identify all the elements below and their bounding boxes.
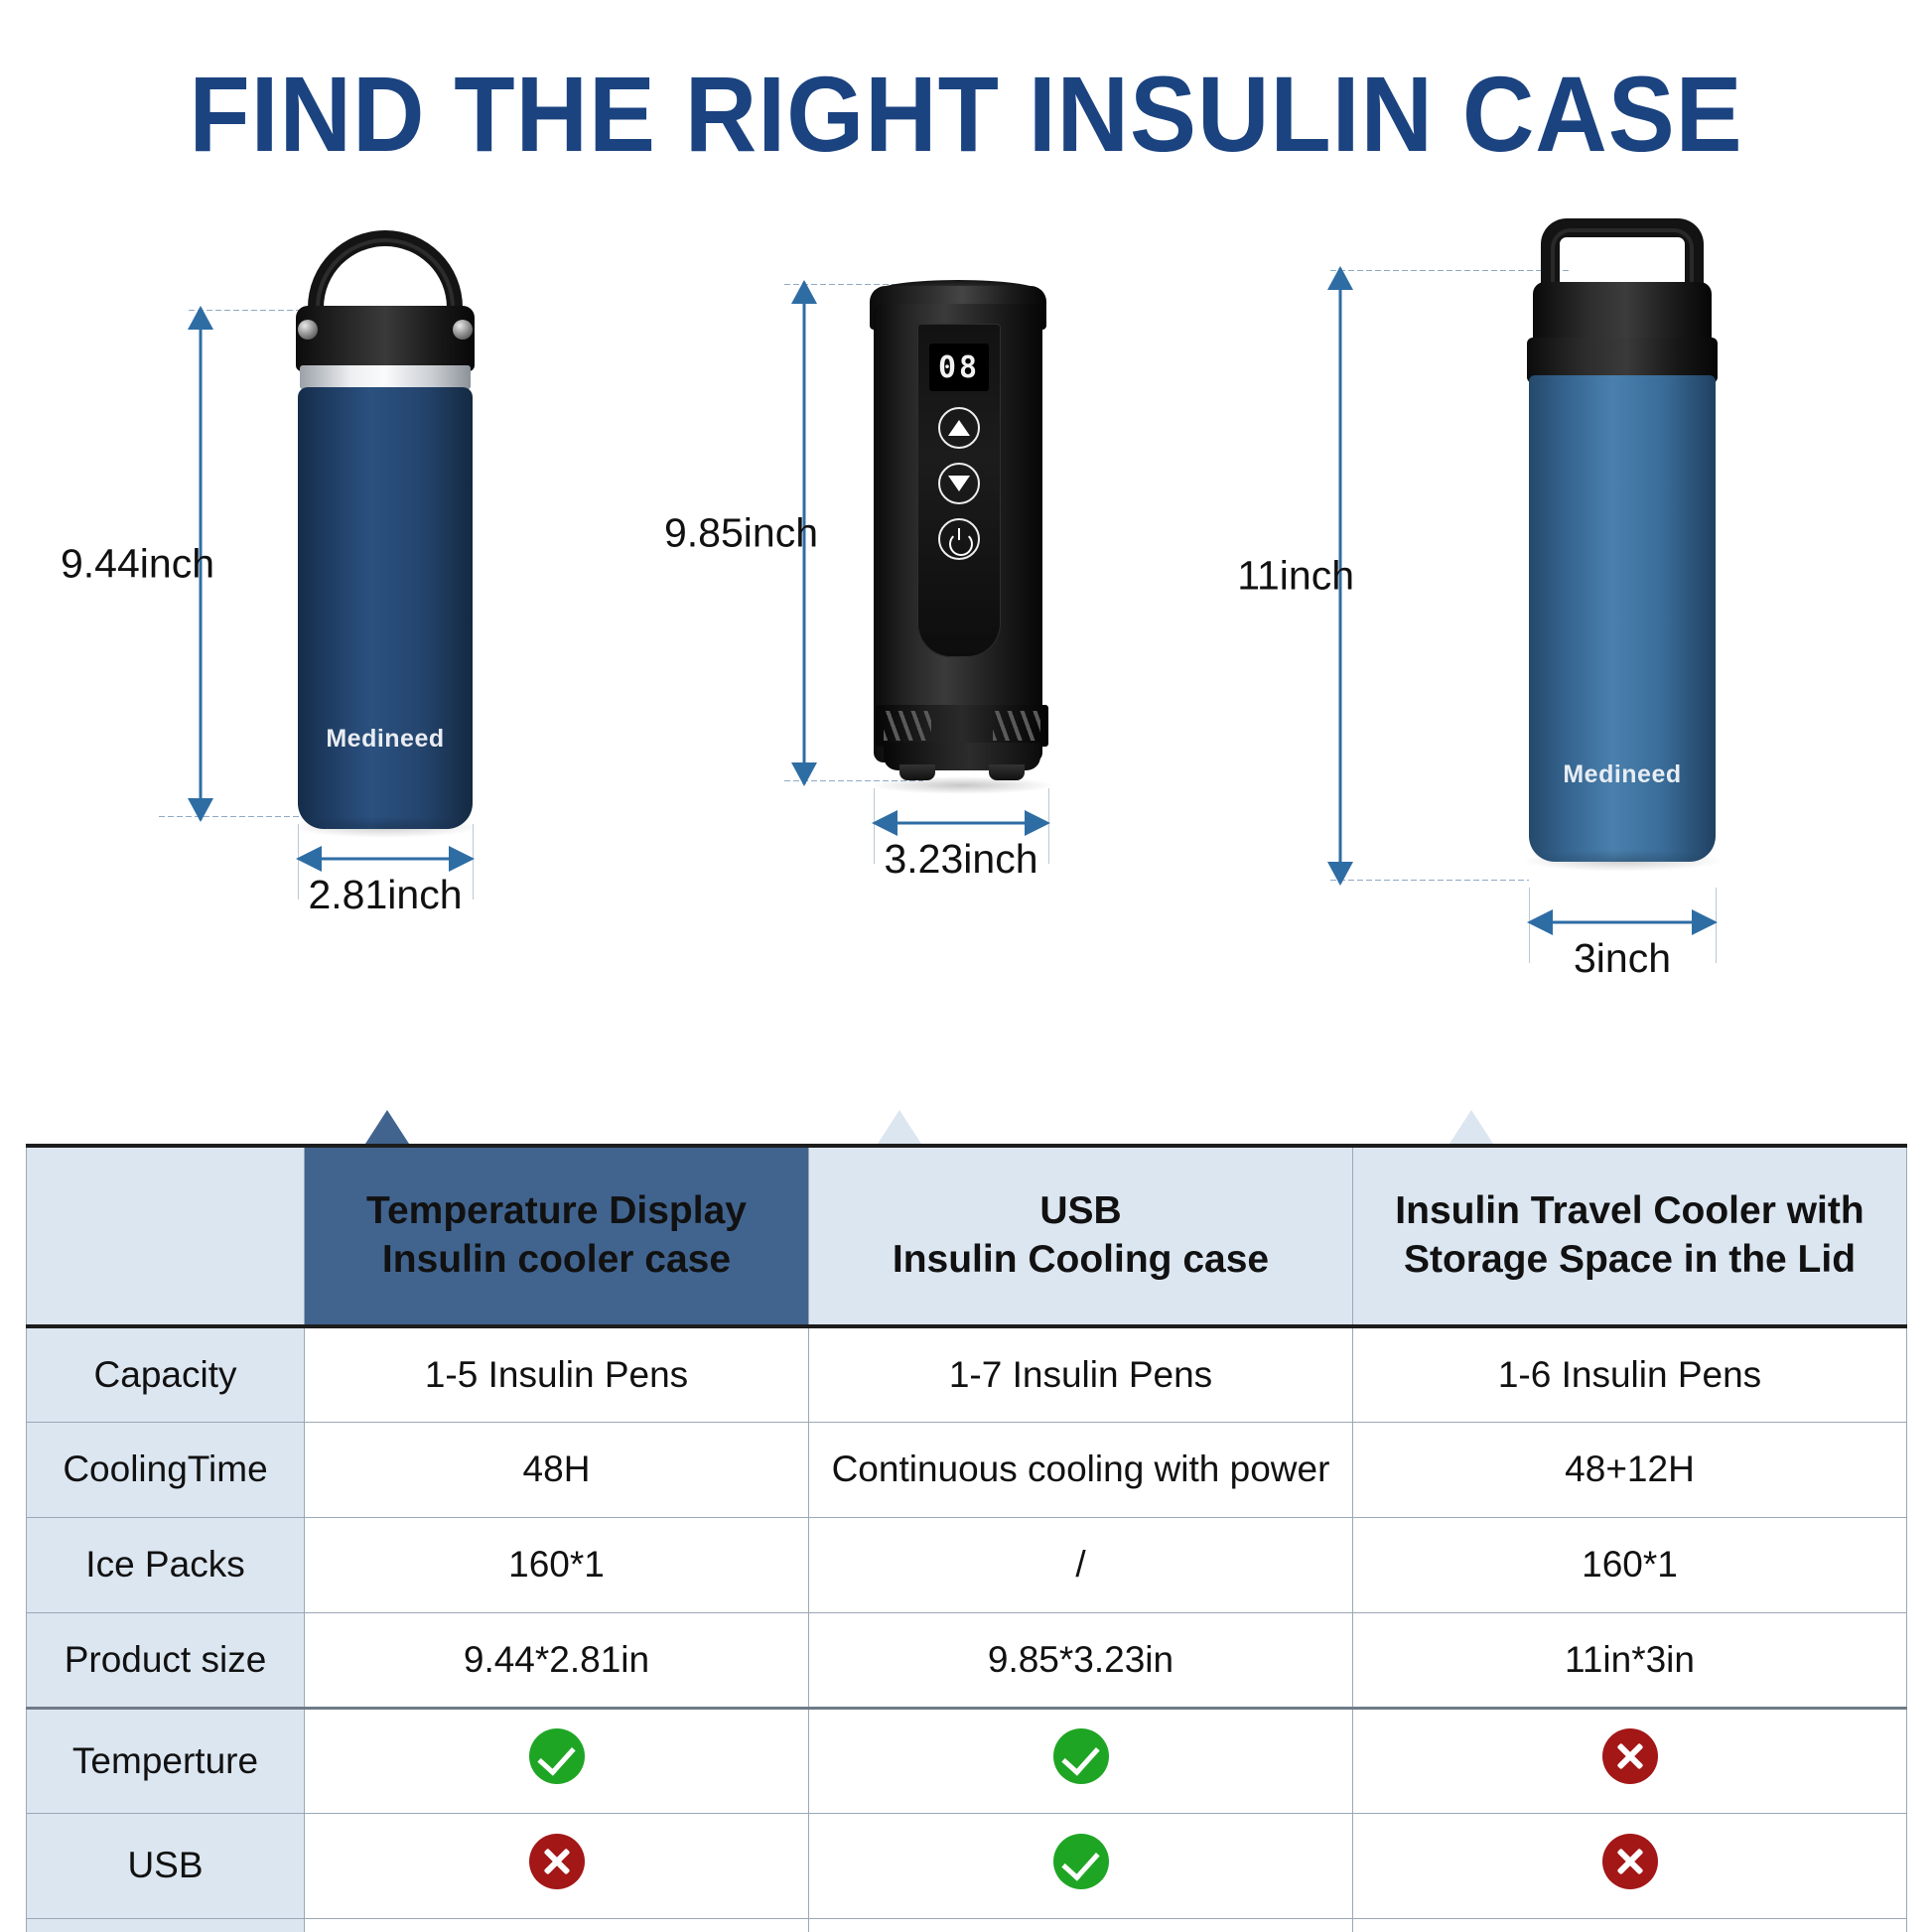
arrow-head-up-icon xyxy=(791,280,817,304)
width-dimension-3: 3inch xyxy=(1529,907,1716,937)
header-product-2-line1: USB xyxy=(817,1187,1344,1236)
arrow-head-right-icon xyxy=(449,846,475,872)
table-cell: 160*1 xyxy=(305,1517,809,1612)
arrow-head-up-icon xyxy=(188,306,213,330)
table-body: Capacity1-5 Insulin Pens1-7 Insulin Pens… xyxy=(27,1326,1907,1932)
bottle-3-lid xyxy=(1533,282,1712,344)
table-cell xyxy=(305,1813,809,1918)
table-row: USB xyxy=(27,1813,1907,1918)
arrow-head-left-icon xyxy=(1527,909,1553,935)
power-button[interactable] xyxy=(938,518,980,560)
arrow-head-right-icon xyxy=(1692,909,1718,935)
width-label-1: 2.81inch xyxy=(308,872,462,918)
table-cell: 11in*3in xyxy=(1353,1612,1907,1708)
column-pointer-1 xyxy=(365,1110,409,1144)
arrow-down-icon xyxy=(948,476,970,491)
dimension-line xyxy=(312,858,459,861)
product-2-figure: 9.85inch 08 xyxy=(784,208,1251,1082)
table-row: Ice Packs160*1/160*1 xyxy=(27,1517,1907,1612)
arrow-head-left-icon xyxy=(872,810,897,836)
check-icon xyxy=(529,1728,585,1784)
height-label-3: 11inch xyxy=(1237,553,1354,600)
column-pointer-2 xyxy=(878,1110,921,1144)
row-label: Tsa Approved xyxy=(27,1918,305,1932)
table-cell: Continuous cooling with power xyxy=(809,1422,1353,1517)
increase-temperature-button[interactable] xyxy=(938,407,980,449)
header-product-1: Temperature Display Insulin cooler case xyxy=(305,1146,809,1326)
check-icon xyxy=(1053,1834,1109,1889)
arrow-head-down-icon xyxy=(188,798,213,822)
table-cell: 9.85*3.23in xyxy=(809,1612,1353,1708)
temperature-display-value: 08 xyxy=(938,350,980,385)
height-label-2: 9.85inch xyxy=(664,510,818,557)
unit-2-shadow xyxy=(870,776,1054,794)
table-cell: 48+12H xyxy=(1353,1422,1907,1517)
comparison-table-wrap: Temperature Display Insulin cooler case … xyxy=(26,1144,1906,1932)
table-cell: 1-7 Insulin Pens xyxy=(809,1326,1353,1422)
height-dimension-3: 11inch xyxy=(1311,268,1370,884)
bottle-1-pin-left-icon xyxy=(298,320,318,340)
arrow-head-right-icon xyxy=(1025,810,1050,836)
bottle-1-steel-band xyxy=(300,365,471,389)
arrow-head-down-icon xyxy=(791,762,817,786)
unit-2-display-screen: 08 xyxy=(929,344,989,391)
header-product-2: USB Insulin Cooling case xyxy=(809,1146,1353,1326)
row-label: USB xyxy=(27,1813,305,1918)
table-cell xyxy=(809,1813,1353,1918)
bottle-1-pin-right-icon xyxy=(453,320,473,340)
bottle-1-lid xyxy=(296,306,475,371)
row-label: Capacity xyxy=(27,1326,305,1422)
arrow-head-up-icon xyxy=(1327,266,1353,290)
table-row: Product size9.44*2.81in9.85*3.23in11in*3… xyxy=(27,1612,1907,1708)
table-cell: / xyxy=(809,1517,1353,1612)
table-cell xyxy=(809,1708,1353,1813)
header-product-2-line2: Insulin Cooling case xyxy=(817,1236,1344,1285)
arrow-head-down-icon xyxy=(1327,862,1353,886)
width-label-2: 3.23inch xyxy=(884,836,1037,883)
bottle-1-brand-label: Medineed xyxy=(298,725,473,754)
dimension-line xyxy=(888,822,1035,825)
table-cell: 1-6 Insulin Pens xyxy=(1353,1326,1907,1422)
width-dimension-1: 2.81inch xyxy=(298,844,473,874)
table-cell xyxy=(1353,1918,1907,1932)
table-cell xyxy=(1353,1813,1907,1918)
table-cell: 160*1 xyxy=(1353,1517,1907,1612)
table-cell: 1-5 Insulin Pens xyxy=(305,1326,809,1422)
header-product-1-line2: Insulin cooler case xyxy=(313,1236,800,1285)
table-cell xyxy=(809,1918,1353,1932)
decrease-temperature-button[interactable] xyxy=(938,463,980,504)
arrow-head-left-icon xyxy=(296,846,322,872)
header-blank-cell xyxy=(27,1146,305,1326)
arrow-up-icon xyxy=(948,420,970,436)
unit-2-vent-grille xyxy=(876,705,1048,747)
power-icon xyxy=(949,529,969,549)
row-label: Temperture xyxy=(27,1708,305,1813)
row-label: Product size xyxy=(27,1612,305,1708)
cross-icon xyxy=(1602,1834,1658,1889)
bottle-1-shadow xyxy=(290,816,481,838)
height-dimension-2: 9.85inch xyxy=(774,282,834,784)
table-header-row: Temperature Display Insulin cooler case … xyxy=(27,1146,1907,1326)
table-cell: 48H xyxy=(305,1422,809,1517)
infographic-page: FIND THE RIGHT INSULIN CASE 9.44inch Med… xyxy=(0,0,1932,1932)
row-label: CoolingTime xyxy=(27,1422,305,1517)
page-title: FIND THE RIGHT INSULIN CASE xyxy=(68,52,1864,176)
header-product-3-line2: Storage Space in the Lid xyxy=(1361,1236,1898,1285)
bottle-3-brand-label: Medineed xyxy=(1529,760,1716,789)
cross-icon xyxy=(529,1834,585,1889)
row-label: Ice Packs xyxy=(27,1517,305,1612)
table-row: Capacity1-5 Insulin Pens1-7 Insulin Pens… xyxy=(27,1326,1907,1422)
table-cell xyxy=(1353,1708,1907,1813)
table-cell xyxy=(305,1708,809,1813)
dimension-line xyxy=(1543,921,1702,924)
product-showcase: 9.44inch Medineed 2.81inch xyxy=(0,208,1932,1082)
height-label-1: 9.44inch xyxy=(61,541,214,588)
table-row: Tsa Approved xyxy=(27,1918,1907,1932)
comparison-table: Temperature Display Insulin cooler case … xyxy=(26,1144,1907,1932)
table-cell xyxy=(305,1918,809,1932)
check-icon xyxy=(1053,1728,1109,1784)
product-3-figure: 11inch Medineed 3inch xyxy=(1330,208,1886,1082)
bottle-3-shadow xyxy=(1521,850,1724,872)
product-1-figure: 9.44inch Medineed 2.81inch xyxy=(149,208,665,1082)
header-product-3-line1: Insulin Travel Cooler with xyxy=(1361,1187,1898,1236)
width-label-3: 3inch xyxy=(1574,935,1671,982)
table-row: CoolingTime48HContinuous cooling with po… xyxy=(27,1422,1907,1517)
bottle-1-body xyxy=(298,387,473,829)
width-dimension-2: 3.23inch xyxy=(874,808,1048,838)
table-cell: 9.44*2.81in xyxy=(305,1612,809,1708)
table-row: Temperture xyxy=(27,1708,1907,1813)
header-product-3: Insulin Travel Cooler with Storage Space… xyxy=(1353,1146,1907,1326)
cross-icon xyxy=(1602,1728,1658,1784)
height-dimension-1: 9.44inch xyxy=(171,308,230,820)
header-product-1-line1: Temperature Display xyxy=(313,1187,800,1236)
column-pointer-3 xyxy=(1449,1110,1493,1144)
